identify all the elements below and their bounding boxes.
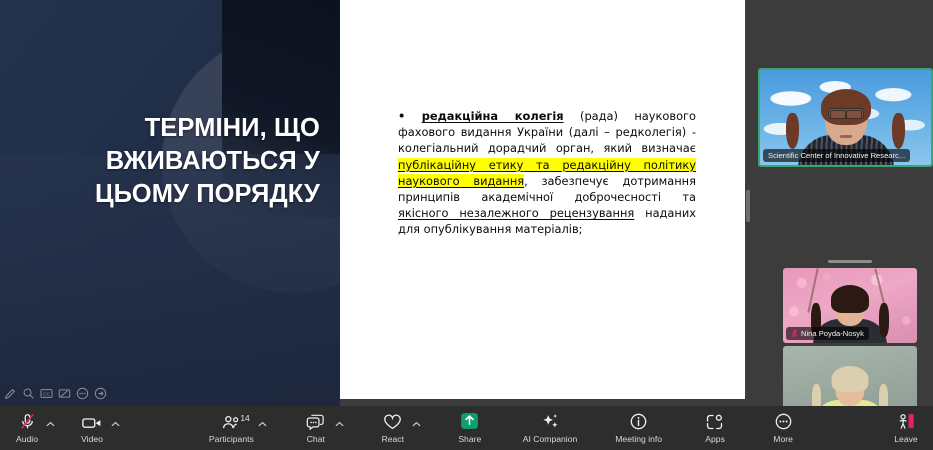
sparkles-icon: [541, 413, 560, 430]
participants-label: Participants: [209, 433, 254, 445]
shared-document-area[interactable]: • редакційна колегія (рада) наукового фа…: [340, 0, 750, 406]
svg-text:CC: CC: [43, 392, 51, 398]
info-circle-icon: [630, 413, 647, 430]
share-button[interactable]: Share: [449, 411, 491, 446]
apps-label: Apps: [705, 433, 725, 445]
chat-control: Chat: [295, 411, 346, 446]
document-text: • редакційна колегія (рада) наукового фа…: [398, 108, 696, 238]
share-label: Share: [458, 433, 481, 445]
audio-button[interactable]: Audio: [6, 411, 48, 446]
video-tile-name-nina: Nina Poyda-Nosyk: [786, 327, 869, 340]
ai-companion-label: AI Companion: [523, 433, 577, 445]
more-label: More: [773, 433, 793, 445]
video-tile-group: Nina Poyda-Nosyk Макарович Вікторія ...: [783, 268, 917, 419]
doc-segment: публікаційну етику: [398, 158, 523, 172]
participants-count: 14: [240, 413, 249, 423]
apps-button[interactable]: Apps: [694, 411, 736, 446]
toolbar-right-group: Leave: [885, 411, 933, 446]
participant-mouth: [840, 135, 852, 138]
meeting-toolbar: Audio Video: [0, 406, 933, 450]
video-strip-drag-handle[interactable]: [828, 260, 872, 263]
participants-control: 14 Participants: [203, 411, 269, 446]
video-tile-speaker[interactable]: Scientific Center of Innovative Researc.…: [758, 68, 933, 167]
participant-name-label: Nina Poyda-Nosyk: [801, 328, 864, 339]
participant-hair: [831, 285, 869, 313]
annotation-toolbar[interactable]: CC: [4, 387, 107, 400]
participant-hair-right: [879, 303, 889, 337]
leave-button[interactable]: Leave: [885, 411, 927, 446]
shared-screen-stage[interactable]: ТЕРМІНИ, ЩО ВЖИВАЮТЬСЯ У ЦЬОМУ ПОРЯДКУ C…: [0, 0, 750, 406]
participant-name-label: Scientific Center of Innovative Researc.…: [768, 150, 905, 161]
bullet-marker: •: [398, 109, 405, 123]
pencil-icon[interactable]: [4, 387, 17, 400]
participants-button[interactable]: 14 Participants: [203, 411, 260, 446]
ellipsis-circle-icon: [775, 413, 792, 430]
video-tile-name-speaker: Scientific Center of Innovative Researc.…: [763, 149, 910, 162]
eraser-icon[interactable]: [58, 387, 71, 400]
video-strip: Scientific Center of Innovative Researc.…: [750, 0, 933, 406]
doc-segment: якісного незалежного рецензування: [398, 206, 634, 220]
document-page: • редакційна колегія (рада) наукового фа…: [340, 0, 747, 399]
heart-icon: [383, 413, 402, 430]
toolbar-center-group: 14 Participants C: [122, 411, 885, 446]
chat-label: Chat: [307, 433, 325, 445]
participant-hair-right: [892, 113, 905, 149]
video-camera-icon: [82, 413, 102, 430]
react-control: React: [372, 411, 423, 446]
apps-icon: [706, 413, 724, 430]
meeting-info-label: Meeting info: [615, 433, 662, 445]
chat-button[interactable]: Chat: [295, 411, 337, 446]
ellipsis-icon[interactable]: [76, 387, 89, 400]
ai-companion-button[interactable]: AI Companion: [517, 411, 583, 446]
zoom-meeting-window: ТЕРМІНИ, ЩО ВЖИВАЮТЬСЯ У ЦЬОМУ ПОРЯДКУ C…: [0, 0, 933, 450]
microphone-muted-icon: [19, 413, 36, 430]
share-screen-icon: [460, 413, 479, 430]
magnifier-icon[interactable]: [22, 387, 35, 400]
document-paragraph: • редакційна колегія (рада) наукового фа…: [398, 108, 696, 238]
doc-segment: редакційна колегія: [422, 109, 564, 123]
participants-icon: [222, 413, 241, 430]
slide-title: ТЕРМІНИ, ЩО ВЖИВАЮТЬСЯ У ЦЬОМУ ПОРЯДКУ: [18, 112, 320, 211]
video-label: Video: [81, 433, 103, 445]
chat-bubble-icon: [306, 413, 325, 430]
video-button[interactable]: Video: [71, 411, 113, 446]
video-tile-nina[interactable]: Nina Poyda-Nosyk: [783, 268, 917, 343]
closed-caption-icon[interactable]: CC: [40, 387, 53, 400]
react-button[interactable]: React: [372, 411, 414, 446]
arrow-right-circle-icon[interactable]: [94, 387, 107, 400]
toolbar-left-group: Audio Video: [0, 411, 122, 446]
react-label: React: [382, 433, 404, 445]
participant-hair: [821, 89, 871, 125]
presentation-slide[interactable]: ТЕРМІНИ, ЩО ВЖИВАЮТЬСЯ У ЦЬОМУ ПОРЯДКУ: [0, 0, 340, 406]
audio-control: Audio: [6, 411, 57, 446]
participant-hair-left: [786, 113, 799, 149]
leave-label: Leave: [894, 433, 917, 445]
more-button[interactable]: More: [762, 411, 804, 446]
participant-hair: [832, 366, 869, 392]
audio-label: Audio: [16, 433, 38, 445]
participant-glasses: [828, 108, 864, 119]
leave-meeting-icon: [897, 413, 915, 430]
meeting-info-button[interactable]: Meeting info: [609, 411, 668, 446]
video-control: Video: [71, 411, 122, 446]
microphone-muted-icon: [791, 329, 798, 338]
